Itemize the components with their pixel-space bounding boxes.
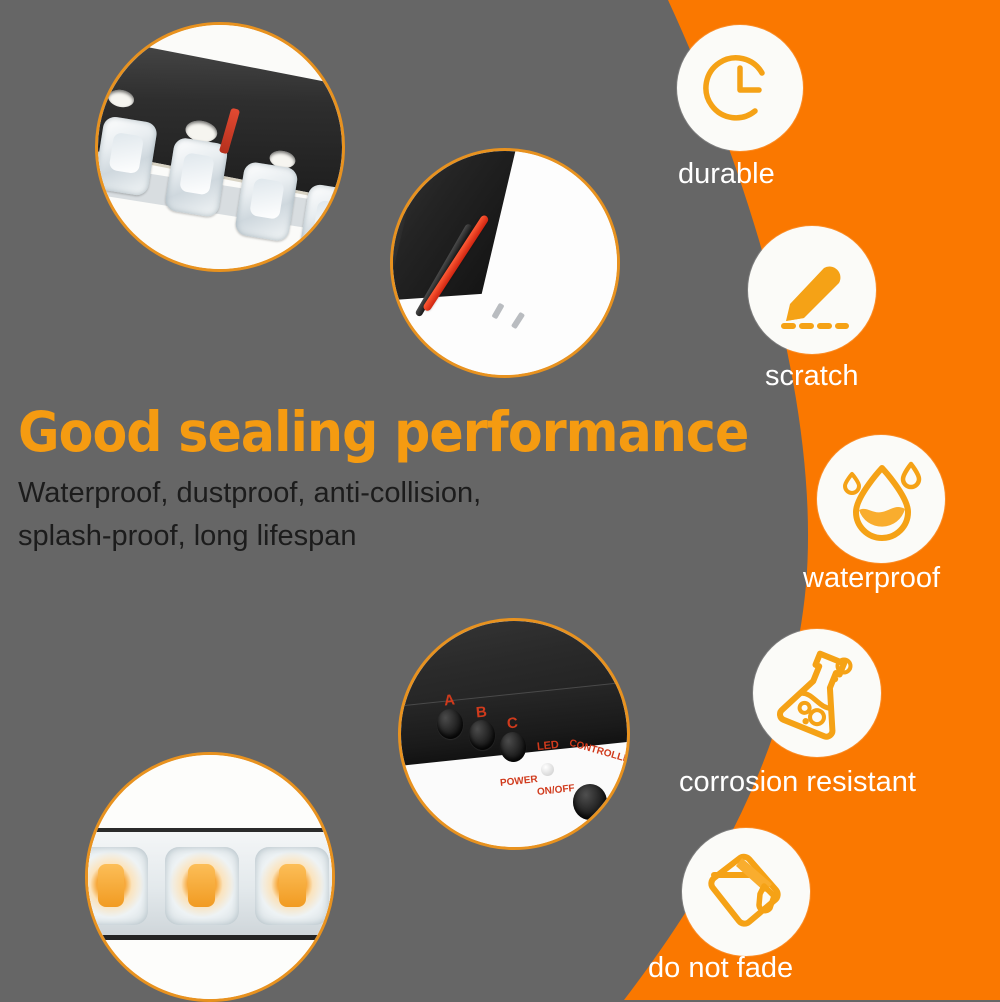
controller-button-a-label: A (443, 693, 455, 709)
controller-knob (573, 784, 607, 820)
feature-durable-label: durable (678, 158, 775, 191)
infographic-canvas: A B C LED POWER ON/OFF CONTROLLER Good s… (0, 0, 1000, 1000)
water-drop-icon (838, 452, 926, 544)
photo-content (98, 25, 342, 269)
photo-wire-leads-closeup (390, 148, 620, 378)
feature-waterproof-label: waterproof (803, 562, 940, 595)
paint-roller-icon (700, 844, 794, 940)
photo-content (393, 151, 617, 375)
led-lens (234, 162, 299, 244)
page-title: Good sealing performance (18, 405, 644, 460)
subtitle-line-2: splash-proof, long lifespan (18, 515, 658, 558)
flask-icon (772, 646, 864, 740)
feature-fade-label: do not fade (648, 952, 793, 985)
bracket-hole (106, 88, 135, 110)
feature-corrosion-label: corrosion resistant (679, 766, 916, 799)
photo-content: A B C LED POWER ON/OFF CONTROLLER (401, 621, 627, 847)
pen-scratch-icon (770, 248, 856, 334)
led-lens (299, 184, 342, 265)
feature-scratch-label: scratch (765, 360, 858, 393)
clock-icon (700, 48, 780, 128)
controller-button-b-label: B (475, 704, 487, 720)
led-lens (98, 116, 158, 198)
controller-led-label: LED (536, 740, 559, 753)
led-strip-body (88, 828, 332, 939)
amber-led-module (255, 847, 329, 925)
photo-controller-box-closeup: A B C LED POWER ON/OFF CONTROLLER (398, 618, 630, 850)
photo-amber-led-closeup (85, 752, 335, 1002)
photo-led-bracket-closeup (95, 22, 345, 272)
controller-button-c-label: C (506, 715, 518, 731)
page-subtitle: Waterproof, dustproof, anti-collision, s… (18, 472, 658, 558)
subtitle-line-1: Waterproof, dustproof, anti-collision, (18, 472, 658, 515)
amber-led-module (88, 847, 148, 925)
photo-content (88, 755, 332, 999)
amber-led-module (165, 847, 239, 925)
